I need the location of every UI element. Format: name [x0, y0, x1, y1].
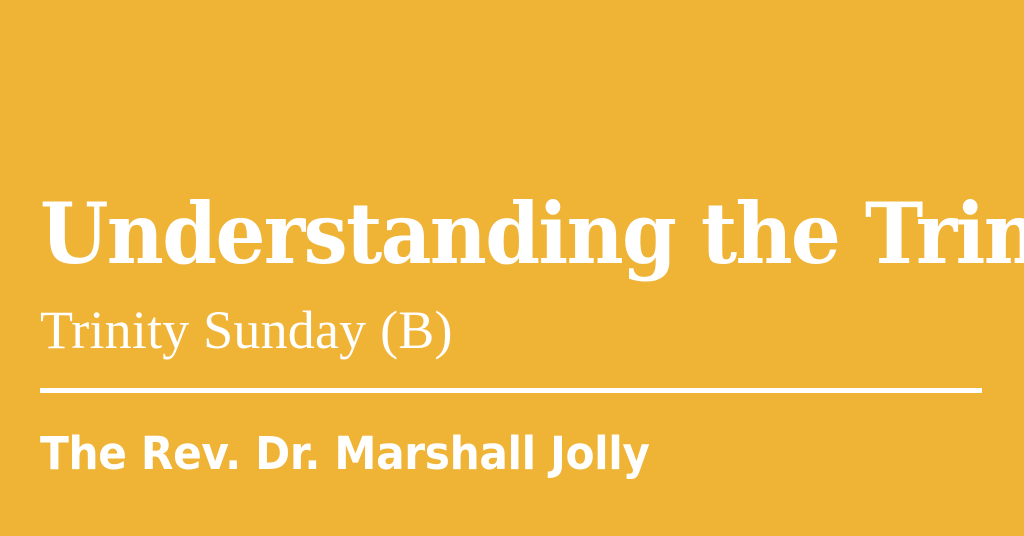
card-content: Understanding the Trinity Trinity Sunday… — [40, 0, 982, 536]
divider-rule — [40, 388, 982, 393]
sermon-title-card: Understanding the Trinity Trinity Sunday… — [0, 0, 1024, 536]
byline-author: The Rev. Dr. Marshall Jolly — [40, 431, 650, 476]
page-title: Understanding the Trinity — [40, 192, 1024, 276]
subtitle: Trinity Sunday (B) — [40, 303, 453, 357]
